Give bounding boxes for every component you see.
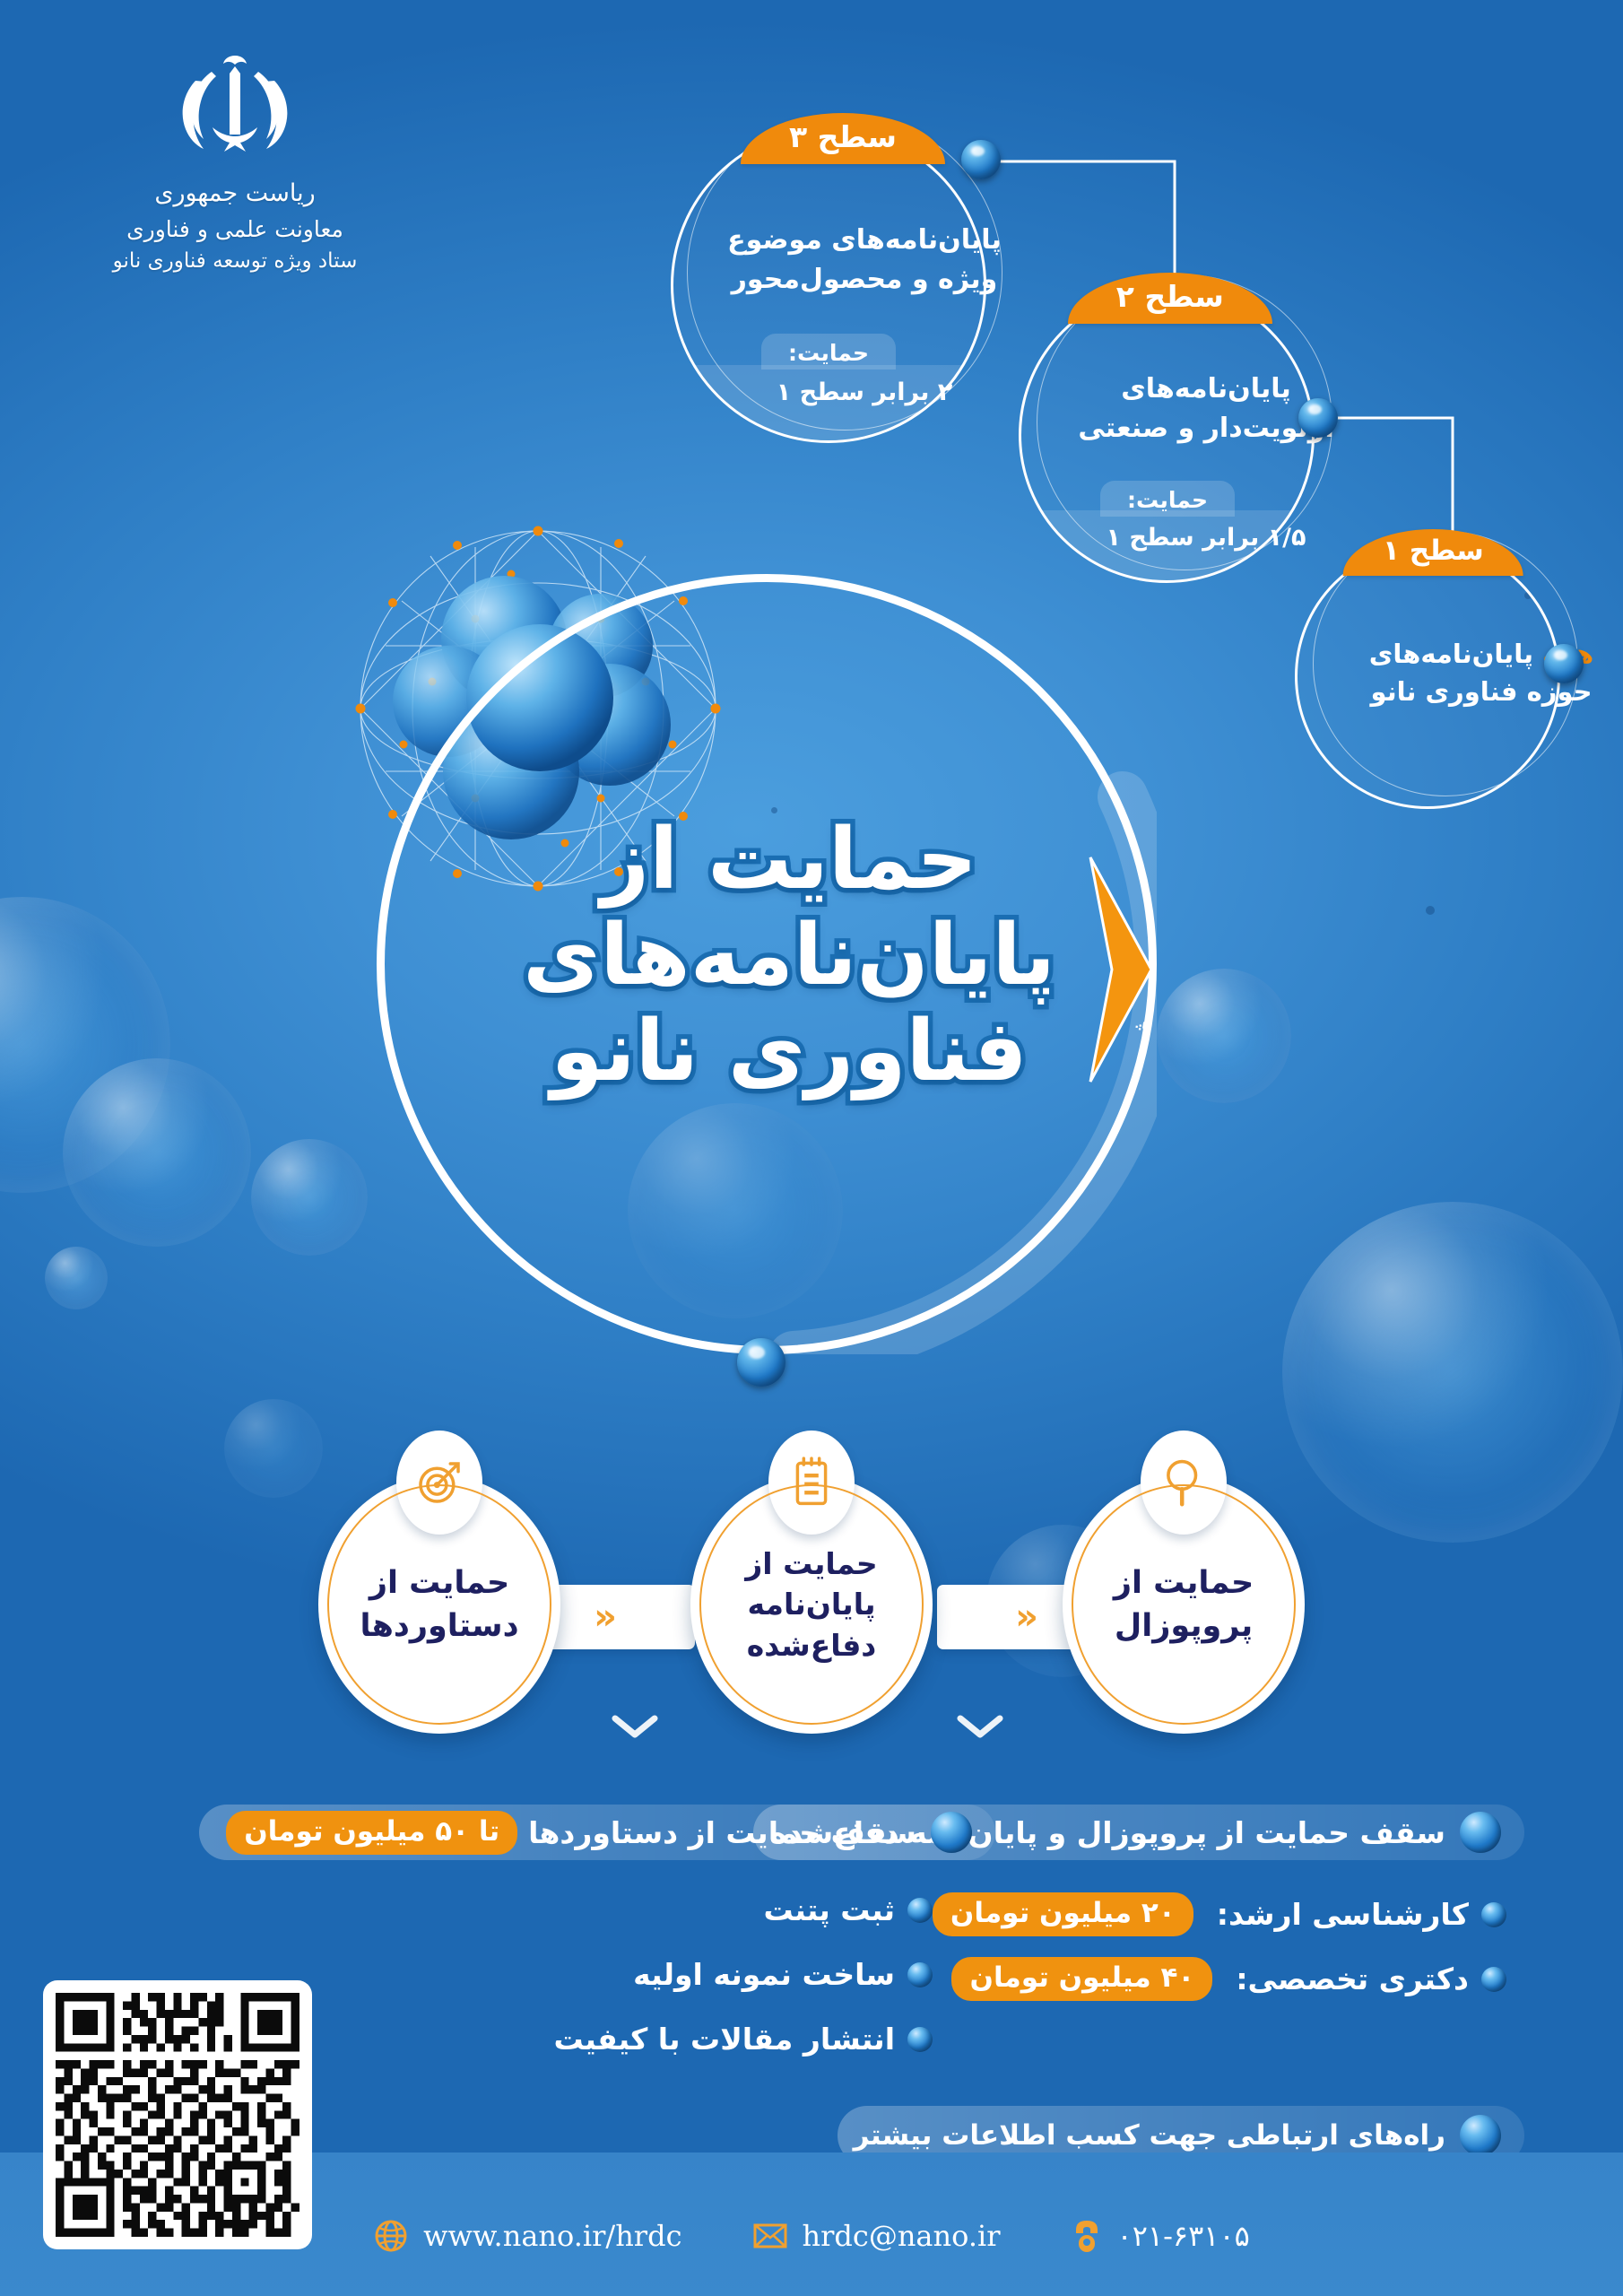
level-3-title: پایان‌نامه‌های موضوع ویژه و محصول‌محور <box>707 221 1022 299</box>
envelope-icon <box>752 2222 788 2250</box>
website-text: www.nano.ir/hrdc <box>423 2219 681 2253</box>
right-panel-item-masters: کارشناسی ارشد: ۲۰ میلیون تومان <box>922 1892 1506 1936</box>
level-3-title-line1: پایان‌نامه‌های موضوع <box>727 224 1002 256</box>
right-panel-item-phd: دکتری تخصصی: ۴۰ میلیون تومان <box>941 1957 1506 2001</box>
qr-code[interactable] <box>43 1980 312 2249</box>
level-3-title-line2: ویژه و محصول‌محور <box>732 264 998 295</box>
bead-icon <box>907 2027 933 2052</box>
qr-code-svg <box>56 1993 299 2237</box>
ring-bottom-node <box>737 1338 785 1387</box>
chevron-left-icon: « <box>1015 1599 1038 1635</box>
level-3-node <box>961 140 1001 179</box>
email-text: hrdc@nano.ir <box>803 2219 1001 2253</box>
level-2-node <box>1298 398 1338 438</box>
title-line-1: حمایت از <box>502 812 1076 908</box>
bubble-decoration <box>1157 969 1291 1103</box>
badge-achievements-text: حمایت از دستاوردها <box>360 1561 518 1648</box>
bubble-decoration <box>1282 1202 1623 1543</box>
bead-icon <box>1460 1812 1501 1853</box>
badge-defended-line2: پایان‌نامه <box>748 1587 876 1622</box>
footer-header-text: راه‌های ارتباطی جهت کسب اطلاعات بیشتر <box>854 2119 1445 2152</box>
level-1-title-line1: پایان‌نامه‌های <box>1369 639 1533 669</box>
bead-icon <box>907 1962 933 1987</box>
phone-text: ۰۲۱-۶۳۱۰۵ <box>1117 2219 1250 2253</box>
badge-defended-thesis-inner: حمایت از پایان‌نامه دفاع‌شده <box>699 1484 924 1725</box>
bubble-decoration <box>251 1139 368 1256</box>
chevron-left-icon: « <box>594 1599 617 1635</box>
logo-line-2: معاونت علمی و فناوری <box>100 213 369 247</box>
bead-icon <box>907 1898 933 1923</box>
telephone-icon <box>1071 2217 1103 2255</box>
footer-website[interactable]: www.nano.ir/hrdc <box>373 2218 681 2254</box>
speck <box>1426 906 1435 915</box>
ring-pointer-wedge-icon <box>1081 839 1162 1100</box>
badge-defended-thesis-text: حمایت از پایان‌نامه دفاع‌شده <box>745 1544 877 1666</box>
left-panel-item-articles: انتشار مقالات با کیفیت <box>553 2022 933 2057</box>
title-line-2: پایان‌نامه‌های <box>502 908 1076 1004</box>
bead-icon <box>1460 2115 1501 2156</box>
level-2-tab: سطح ۲ <box>1068 273 1272 324</box>
phd-amount: ۴۰ میلیون تومان <box>951 1957 1212 2001</box>
left-panel-item-patent: ثبت پتنت <box>763 1892 933 1927</box>
badge-proposal-inner: حمایت از پروپوزال <box>1072 1484 1296 1725</box>
masters-label: کارشناسی ارشد: <box>1217 1897 1469 1932</box>
page-title: حمایت از پایان‌نامه‌های فناوری نانو <box>502 812 1076 1100</box>
left-item-1: ثبت پتنت <box>763 1892 895 1927</box>
bubble-decoration <box>45 1247 108 1309</box>
phd-label: دکتری تخصصی: <box>1236 1961 1469 1996</box>
badge-defended-thesis[interactable]: حمایت از پایان‌نامه دفاع‌شده <box>690 1475 933 1734</box>
badge-proposal-line2: پروپوزال <box>1115 1608 1253 1644</box>
left-panel-header-amount: تا ۵۰ میلیون تومان <box>226 1811 517 1855</box>
bubble-decoration <box>224 1399 323 1498</box>
badge-proposal-text: حمایت از پروپوزال <box>1114 1561 1254 1648</box>
badge-proposal-line1: حمایت از <box>1114 1565 1254 1601</box>
left-panel-item-prototype: ساخت نمونه اولیه <box>633 1957 933 1992</box>
level-3-support-value: ۲ برابر سطح ۱ <box>707 378 1022 406</box>
level-1-tab: سطح ۱ <box>1343 529 1523 576</box>
left-item-2: ساخت نمونه اولیه <box>633 1957 895 1992</box>
left-panel-header: سقف حمایت از دستاوردها تا ۵۰ میلیون توما… <box>199 1805 995 1860</box>
level-3-group: سطح ۳ پایان‌نامه‌های موضوع ویژه و محصول‌… <box>664 108 1022 466</box>
iran-emblem-icon <box>154 41 316 176</box>
badge-defended-line1: حمایت از <box>745 1546 877 1581</box>
footer-email[interactable]: hrdc@nano.ir <box>752 2219 1001 2253</box>
level-3-tab: سطح ۳ <box>741 113 945 164</box>
masters-amount: ۲۰ میلیون تومان <box>933 1892 1193 1936</box>
bead-icon <box>1481 1967 1506 1992</box>
bubble-decoration <box>0 897 170 1193</box>
level-2-title-line1: پایان‌نامه‌های <box>1121 373 1291 404</box>
bead-icon <box>1481 1902 1506 1927</box>
level-3-support-label: حمایت: <box>761 334 896 370</box>
badge-achievements[interactable]: حمایت از دستاوردها <box>318 1475 560 1734</box>
level-2-title-line2: اولویت‌دار و صنعتی <box>1078 413 1333 444</box>
level-1-group: سطح ۱ همه پایان‌نامه‌های حوزه فناوری نان… <box>1291 527 1614 823</box>
process-badges: « « حمایت از پروپوزال <box>318 1448 1305 1744</box>
left-item-3: انتشار مقالات با کیفیت <box>553 2022 895 2057</box>
footer-phone[interactable]: ۰۲۱-۶۳۱۰۵ <box>1071 2217 1250 2255</box>
badge-defended-line3: دفاع‌شده <box>747 1628 876 1663</box>
title-line-3: فناوری نانو <box>502 1004 1076 1100</box>
bubble-decoration <box>63 1058 251 1247</box>
badge-achievements-inner: حمایت از دستاوردها <box>327 1484 551 1725</box>
badge-proposal[interactable]: حمایت از پروپوزال <box>1063 1475 1305 1734</box>
organization-logo: ریاست جمهوری معاونت علمی و فناوری ستاد و… <box>100 41 369 277</box>
badge-achievements-line1: حمایت از <box>369 1565 509 1601</box>
poster-canvas: ریاست جمهوری معاونت علمی و فناوری ستاد و… <box>0 0 1623 2296</box>
logo-line-3: ستاد ویژه توسعه فناوری نانو <box>100 246 369 277</box>
logo-line-1: ریاست جمهوری <box>100 176 369 213</box>
left-panel-header-text: سقف حمایت از دستاوردها <box>528 1815 916 1850</box>
level-1-node <box>1544 644 1584 683</box>
badge-achievements-line2: دستاوردها <box>360 1608 518 1644</box>
globe-icon <box>373 2218 409 2254</box>
bead-icon <box>931 1812 972 1853</box>
level-2-support-label: حمایت: <box>1100 481 1235 517</box>
